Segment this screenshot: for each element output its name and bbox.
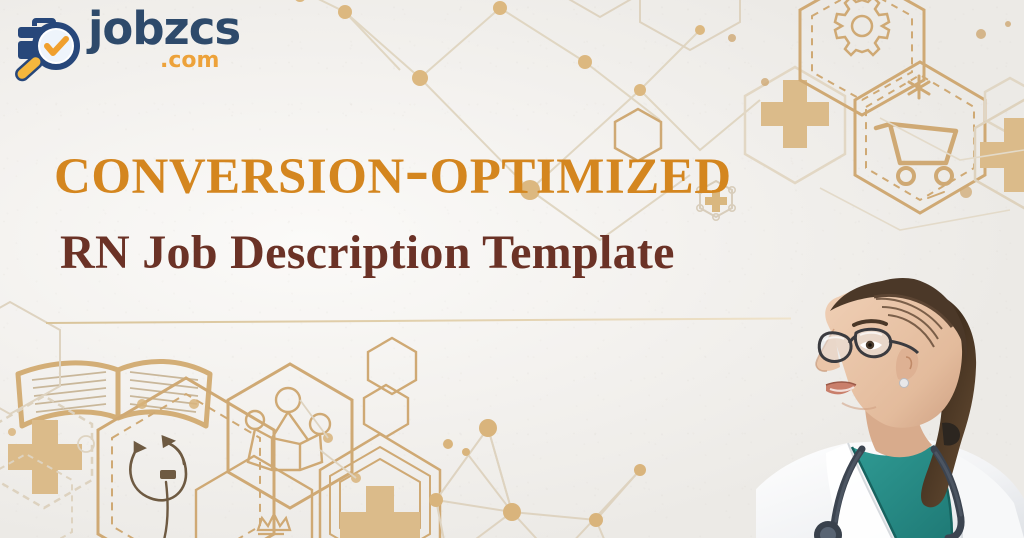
page-title: Conversion-Optimized [54, 132, 989, 206]
page-subtitle: RN Job Description Template [60, 228, 675, 278]
promo-banner: jobzcs .com Conversion-Optimized RN Job … [0, 0, 1024, 538]
logo-tld: .com [160, 50, 219, 72]
briefcase-magnifier-check-icon [8, 6, 86, 86]
site-logo[interactable]: jobzcs .com [8, 2, 233, 88]
nurse-profile-photo [756, 263, 1024, 538]
logo-wordmark: jobzcs [88, 6, 240, 51]
